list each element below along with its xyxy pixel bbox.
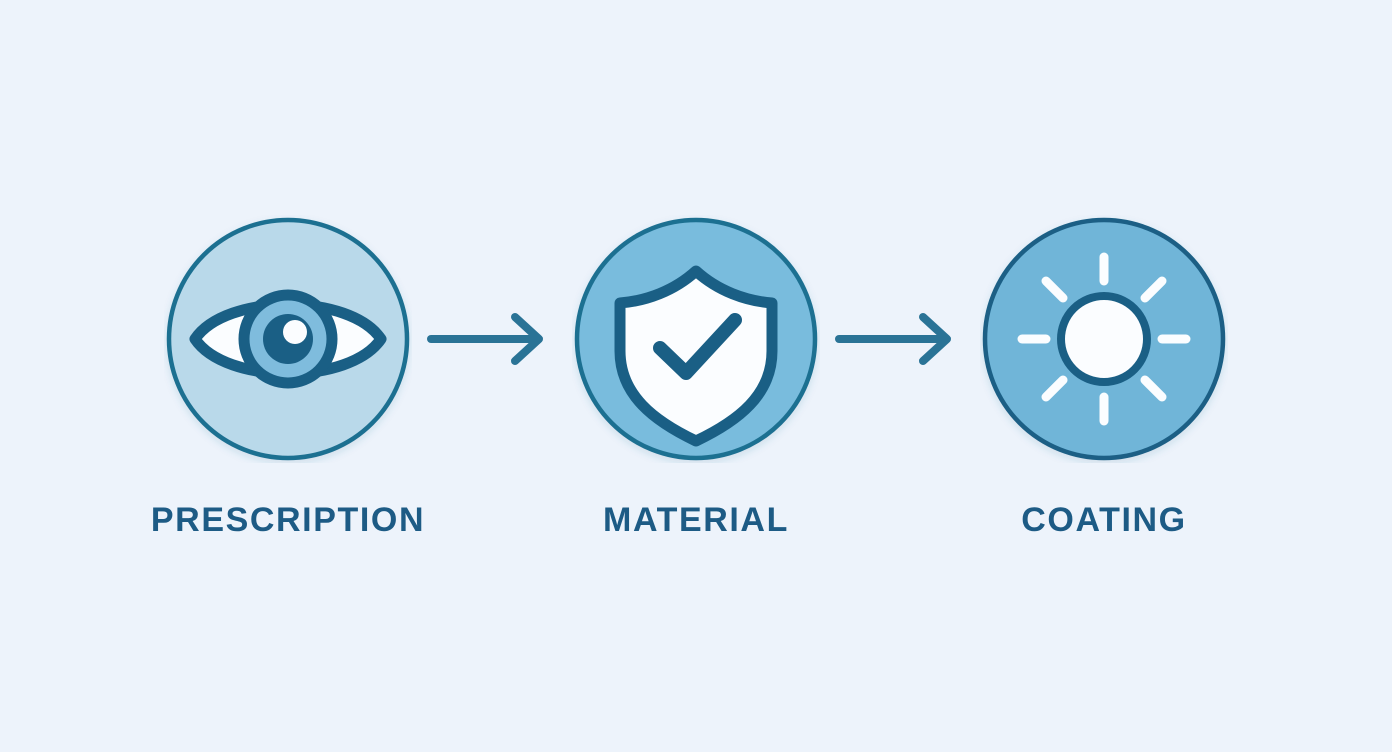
shield-check-icon: [572, 215, 820, 463]
arrow-right-icon: [835, 309, 965, 369]
process-flow-diagram: PRESCRIPTION: [0, 0, 1392, 752]
arrow-right-icon: [427, 309, 557, 369]
flow-connector-1: [418, 215, 566, 463]
eye-icon: [164, 215, 412, 463]
step-label-coating: COATING: [1021, 503, 1186, 537]
flow-step-coating[interactable]: COATING: [974, 215, 1234, 537]
flow-row: PRESCRIPTION: [0, 0, 1392, 752]
icon-circle-material: [572, 215, 820, 463]
flow-step-material[interactable]: MATERIAL: [566, 215, 826, 537]
icon-circle-prescription: [164, 215, 412, 463]
step-label-prescription: PRESCRIPTION: [151, 503, 425, 537]
step-label-material: MATERIAL: [603, 503, 789, 537]
icon-circle-coating: [980, 215, 1228, 463]
sun-icon: [980, 215, 1228, 463]
flow-step-prescription[interactable]: PRESCRIPTION: [158, 215, 418, 537]
flow-connector-2: [826, 215, 974, 463]
